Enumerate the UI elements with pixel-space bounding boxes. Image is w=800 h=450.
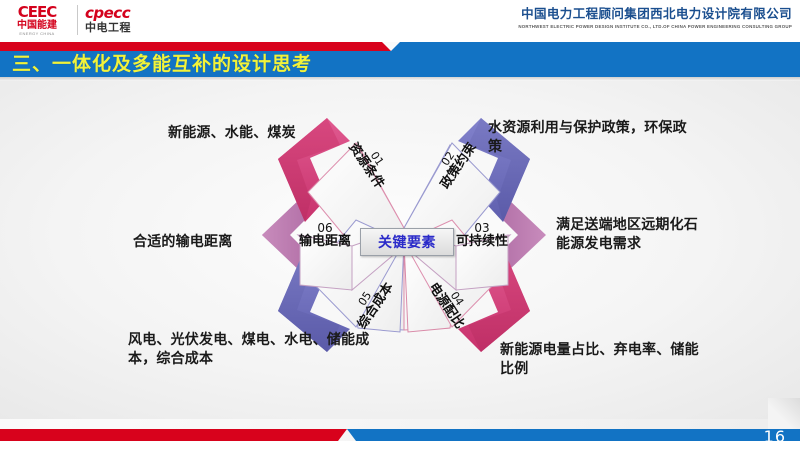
- logo-divider: [77, 5, 78, 35]
- ceec-logo-cn: 中国能建: [4, 21, 70, 31]
- cpecc-logo: cpecc 中电工程: [85, 5, 131, 35]
- slide: CEEC 中国能建 ENERGY CHINA cpecc 中电工程 中国电力工程…: [0, 0, 800, 450]
- annotation-comprehensive-cost: 风电、光伏发电、煤电、水电、储能成本，综合成本: [128, 331, 378, 370]
- cpecc-logo-mark: cpecc: [85, 5, 131, 22]
- header-notch-icon: [382, 42, 400, 51]
- petal-03-number: 03: [456, 222, 508, 235]
- ceec-logo: CEEC 中国能建 ENERGY CHINA: [4, 5, 70, 36]
- ceec-logo-en: ENERGY CHINA: [4, 32, 70, 36]
- corner-fold-decoration: [768, 398, 800, 430]
- footer-blue-bar: [356, 429, 800, 441]
- annotation-power-source-ratio: 新能源电量占比、弃电率、储能比例: [500, 341, 706, 380]
- header-red-bar: [0, 42, 382, 51]
- organization-name: 中国电力工程顾问集团西北电力设计院有限公司 NORTHWEST ELECTRIC…: [518, 3, 792, 29]
- cpecc-logo-cn: 中电工程: [85, 22, 131, 35]
- page-title: 三、一体化及多能互补的设计思考: [12, 51, 312, 77]
- organization-name-cn: 中国电力工程顾问集团西北电力设计院有限公司: [518, 3, 792, 22]
- slide-header: CEEC 中国能建 ENERGY CHINA cpecc 中电工程 中国电力工程…: [0, 0, 800, 42]
- footer-notch-icon: [338, 429, 356, 441]
- petal-03-text: 可持续性: [456, 235, 508, 249]
- header-blue-bar: [400, 42, 800, 51]
- petal-03-label: 03 可持续性: [456, 222, 508, 248]
- annotation-resource-conditions: 新能源、水能、煤炭: [168, 124, 358, 143]
- ceec-logo-mark: CEEC: [4, 5, 70, 20]
- footer-white-strip: [0, 441, 800, 450]
- logo-block: CEEC 中国能建 ENERGY CHINA cpecc 中电工程: [4, 2, 156, 38]
- annotation-sustainability: 满足送端地区远期化石能源发电需求: [556, 216, 702, 255]
- annotation-policy-constraints: 水资源利用与保护政策，环保政策: [488, 119, 688, 158]
- annotation-transmission-distance: 合适的输电距离: [133, 233, 313, 252]
- footer-red-bar: [0, 429, 338, 441]
- organization-name-en: NORTHWEST ELECTRIC POWER DESIGN INSTITUT…: [518, 24, 792, 29]
- center-key-elements-chip: 关键要素: [360, 228, 454, 256]
- center-key-elements-label: 关键要素: [378, 232, 436, 252]
